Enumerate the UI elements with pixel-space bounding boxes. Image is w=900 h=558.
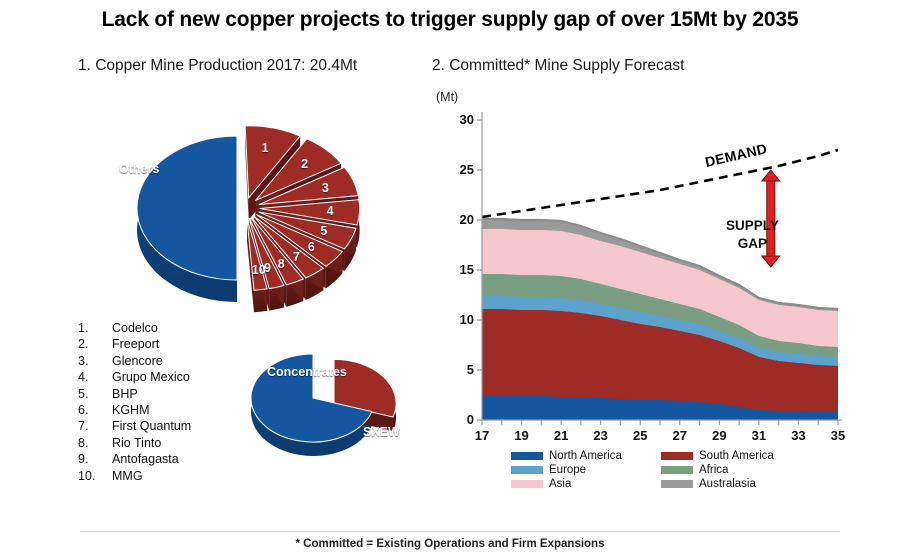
list-item-index: 5. xyxy=(78,386,112,402)
list-item-index: 9. xyxy=(78,451,112,467)
mine-supply-forecast-chart: (Mt) 051015202530 17192123252729313335 D… xyxy=(420,90,870,440)
legend-item[interactable]: Asia xyxy=(511,478,661,490)
pie-main-svg xyxy=(95,100,405,340)
left-panel-caption: 1. Copper Mine Production 2017: 20.4Mt xyxy=(78,57,357,75)
list-item: 6.KGHM xyxy=(78,402,288,418)
legend-item[interactable]: North America xyxy=(511,450,661,462)
arrow-head-down xyxy=(762,256,780,267)
list-item-label: Grupo Mexico xyxy=(112,369,288,385)
list-item-label: Rio Tinto xyxy=(112,435,288,451)
legend-swatch xyxy=(511,466,543,474)
list-item-label: Freeport xyxy=(112,336,288,352)
legend-swatch xyxy=(661,480,693,488)
legend-label: South America xyxy=(699,450,774,462)
list-item-label: First Quantum xyxy=(112,418,288,434)
list-item-index: 4. xyxy=(78,369,112,385)
supply-gap-label: SUPPLY GAP xyxy=(709,217,795,253)
list-item: 1.Codelco xyxy=(78,320,288,336)
list-item-label: BHP xyxy=(112,386,288,402)
list-item: 5.BHP xyxy=(78,386,288,402)
list-item: 10.MMG xyxy=(78,468,288,484)
list-item: 3.Glencore xyxy=(78,353,288,369)
list-item-label: Antofagasta xyxy=(112,451,288,467)
list-item: 7.First Quantum xyxy=(78,418,288,434)
legend-label: Australasia xyxy=(699,478,756,490)
legend-item[interactable]: Europe xyxy=(511,464,661,476)
legend-item[interactable]: Australasia xyxy=(661,478,811,490)
page-title: Lack of new copper projects to trigger s… xyxy=(0,8,900,32)
legend-label: North America xyxy=(549,450,622,462)
top-producers-list: 1.Codelco2.Freeport3.Glencore4.Grupo Mex… xyxy=(78,320,288,484)
legend-swatch xyxy=(661,452,693,460)
legend-label: Europe xyxy=(549,464,586,476)
list-item-label: Glencore xyxy=(112,353,288,369)
list-item-index: 1. xyxy=(78,320,112,336)
footer-divider xyxy=(80,531,840,532)
list-item: 4.Grupo Mexico xyxy=(78,369,288,385)
legend-item[interactable]: South America xyxy=(661,450,811,462)
list-item-index: 7. xyxy=(78,418,112,434)
list-item: 9.Antofagasta xyxy=(78,451,288,467)
footnote: * Committed = Existing Operations and Fi… xyxy=(0,538,900,550)
list-item-index: 8. xyxy=(78,435,112,451)
supply-gap-line2: GAP xyxy=(738,236,767,251)
slide-root: Lack of new copper projects to trigger s… xyxy=(0,0,900,558)
list-item-index: 6. xyxy=(78,402,112,418)
list-item-label: KGHM xyxy=(112,402,288,418)
legend-swatch xyxy=(661,466,693,474)
list-item-index: 10. xyxy=(78,468,112,484)
area-chart-plot xyxy=(420,90,870,440)
right-panel-caption: 2. Committed* Mine Supply Forecast xyxy=(432,57,684,75)
list-item-label: Codelco xyxy=(112,320,288,336)
legend-label: Africa xyxy=(699,464,728,476)
list-item: 2.Freeport xyxy=(78,336,288,352)
copper-production-pie-chart: Others 12345678910 xyxy=(95,100,405,340)
legend-label: Asia xyxy=(549,478,571,490)
list-item-index: 3. xyxy=(78,353,112,369)
list-item: 8.Rio Tinto xyxy=(78,435,288,451)
list-item-index: 2. xyxy=(78,336,112,352)
legend-swatch xyxy=(511,480,543,488)
list-item-label: MMG xyxy=(112,468,288,484)
legend-item[interactable]: Africa xyxy=(661,464,811,476)
legend-swatch xyxy=(511,452,543,460)
demand-line xyxy=(482,150,838,217)
supply-gap-line1: SUPPLY xyxy=(726,218,779,233)
arrow-head-up xyxy=(762,170,780,181)
chart-legend: North AmericaSouth AmericaEuropeAfricaAs… xyxy=(511,450,811,490)
